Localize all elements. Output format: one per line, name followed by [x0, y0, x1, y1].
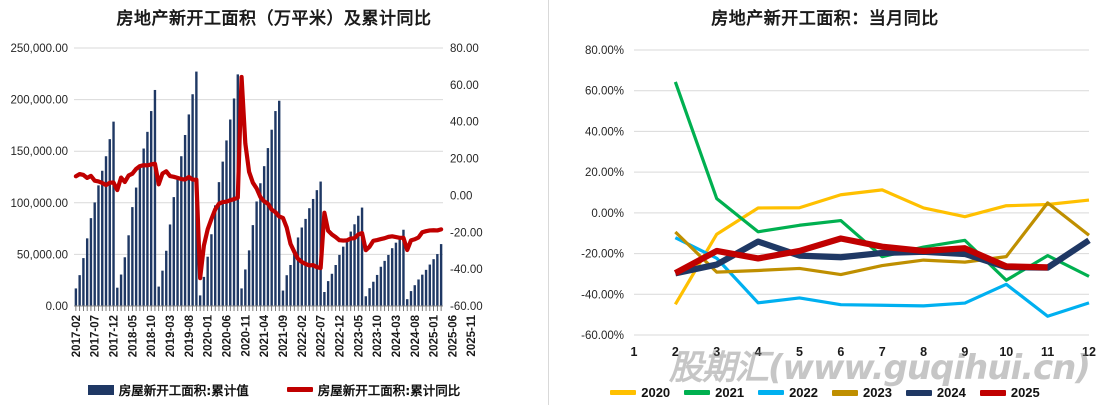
right-chart-x-tick: 11 [1041, 345, 1054, 359]
legend-item-2025[interactable]: 2025 [980, 385, 1040, 400]
right-chart-y-tick: 40.00% [585, 126, 624, 138]
right-chart-y-tick: 80.00% [585, 45, 624, 57]
right-chart-x-tick: 7 [879, 345, 886, 359]
right-chart-legend: 202020212022202320242025 [549, 385, 1101, 400]
left-x-tick: 2018-10 [146, 315, 158, 357]
left-x-tick: 2025-11 [466, 314, 478, 356]
right-chart-x-tick: 3 [713, 345, 720, 359]
left-chart-svg: 250,000.00200,000.00150,000.00100,000.00… [0, 0, 549, 372]
left-x-tick: 2017-02 [71, 315, 83, 357]
right-chart-x-tick: 6 [837, 345, 844, 359]
legend-label: 2020 [641, 385, 670, 400]
left-x-tick: 2022-12 [334, 315, 346, 357]
legend-item-2022[interactable]: 2022 [758, 385, 818, 400]
legend-line-swatch [287, 387, 313, 392]
right-chart-x-tick: 12 [1082, 345, 1096, 359]
right-axis-tick: 40.00 [450, 117, 479, 129]
cumulative-yoy-line [76, 77, 441, 278]
legend-label: 2021 [715, 385, 744, 400]
right-axis-tick: 80.00 [450, 43, 479, 55]
right-axis-tick: -60.00 [450, 301, 483, 313]
left-x-tick: 2021-09 [278, 315, 290, 357]
legend-line-swatch [906, 390, 932, 396]
right-axis-tick: 20.00 [450, 154, 479, 166]
legend-line-swatch [758, 390, 784, 395]
left-x-tick: 2023-05 [353, 314, 365, 357]
right-chart-y-tick: -40.00% [581, 289, 624, 301]
legend-label: 房屋新开工面积:累计值 [119, 380, 249, 399]
legend-line-swatch [610, 390, 636, 395]
right-chart-x-tick: 10 [999, 345, 1013, 359]
left-axis-tick: 200,000.00 [10, 95, 68, 107]
right-chart-x-tick: 8 [920, 345, 927, 359]
right-chart-panel: 房地产新开工面积：当月同比 80.00%60.00%40.00%20.00%0.… [549, 0, 1101, 405]
legend-line-swatch [684, 390, 710, 395]
legend-label: 2023 [863, 385, 892, 400]
right-chart-y-tick: 0.00% [591, 208, 624, 220]
left-x-tick: 2024-03 [391, 315, 403, 357]
right-chart-y-tick: 20.00% [585, 167, 624, 179]
legend-item-2020[interactable]: 2020 [610, 385, 670, 400]
legend-line-swatch [980, 390, 1006, 396]
legend-item[interactable]: 房屋新开工面积:累计值 [88, 380, 249, 399]
legend-label: 2022 [789, 385, 818, 400]
left-x-tick: 2021-04 [259, 314, 271, 357]
right-chart-x-tick: 9 [961, 345, 968, 359]
right-axis-tick: -40.00 [450, 264, 483, 276]
legend-item-2023[interactable]: 2023 [832, 385, 892, 400]
left-x-tick: 2017-12 [109, 315, 121, 357]
legend-bar-swatch [88, 385, 114, 395]
legend-line-swatch [832, 390, 858, 396]
right-axis-tick: -20.00 [450, 227, 483, 239]
left-x-tick: 2020-06 [221, 315, 233, 357]
dual-chart-figure: 房地产新开工面积（万平米）及累计同比 250,000.00200,000.001… [0, 0, 1101, 405]
left-x-tick: 2017-07 [90, 315, 102, 357]
left-x-tick: 2019-03 [165, 315, 177, 357]
right-chart-y-tick: -20.00% [581, 249, 624, 261]
left-axis-tick: 150,000.00 [10, 146, 68, 158]
right-chart-svg: 80.00%60.00%40.00%20.00%0.00%-20.00%-40.… [549, 0, 1101, 368]
right-chart-x-tick: 1 [631, 345, 638, 359]
legend-item-2021[interactable]: 2021 [684, 385, 744, 400]
right-chart-x-tick: 5 [796, 345, 803, 359]
right-chart-x-tick: 2 [672, 345, 679, 359]
legend-item-2024[interactable]: 2024 [906, 385, 966, 400]
left-x-tick: 2022-07 [316, 315, 328, 357]
left-axis-tick: 50,000.00 [17, 249, 68, 261]
legend-label: 2025 [1011, 385, 1040, 400]
right-chart-y-tick: 60.00% [585, 86, 624, 98]
left-axis-tick: 0.00 [46, 301, 68, 313]
right-chart-title: 房地产新开工面积：当月同比 [549, 4, 1101, 29]
left-chart-title: 房地产新开工面积（万平米）及累计同比 [0, 4, 548, 29]
right-chart-y-tick: -60.00% [581, 330, 624, 342]
left-axis-tick: 250,000.00 [10, 43, 68, 55]
right-chart-x-tick: 4 [755, 345, 762, 359]
right-axis-tick: 0.00 [450, 190, 472, 202]
left-x-tick: 2022-02 [297, 315, 309, 357]
left-x-tick: 2019-08 [184, 314, 196, 357]
left-chart-legend: 房屋新开工面积:累计值房屋新开工面积:累计同比 [0, 380, 548, 399]
left-x-tick: 2020-01 [203, 314, 215, 357]
left-x-tick: 2018-05 [127, 314, 139, 357]
legend-label: 房屋新开工面积:累计同比 [318, 380, 461, 399]
left-chart-panel: 房地产新开工面积（万平米）及累计同比 250,000.00200,000.001… [0, 0, 549, 405]
legend-item[interactable]: 房屋新开工面积:累计同比 [287, 380, 461, 399]
left-x-tick: 2020-11 [240, 314, 252, 356]
left-axis-tick: 100,000.00 [10, 198, 68, 210]
left-x-tick: 2024-08 [410, 314, 422, 357]
legend-label: 2024 [937, 385, 966, 400]
left-x-tick: 2025-06 [447, 315, 459, 357]
left-x-tick: 2023-10 [372, 315, 384, 357]
right-axis-tick: 60.00 [450, 80, 479, 92]
left-x-tick: 2025-01 [429, 314, 441, 357]
